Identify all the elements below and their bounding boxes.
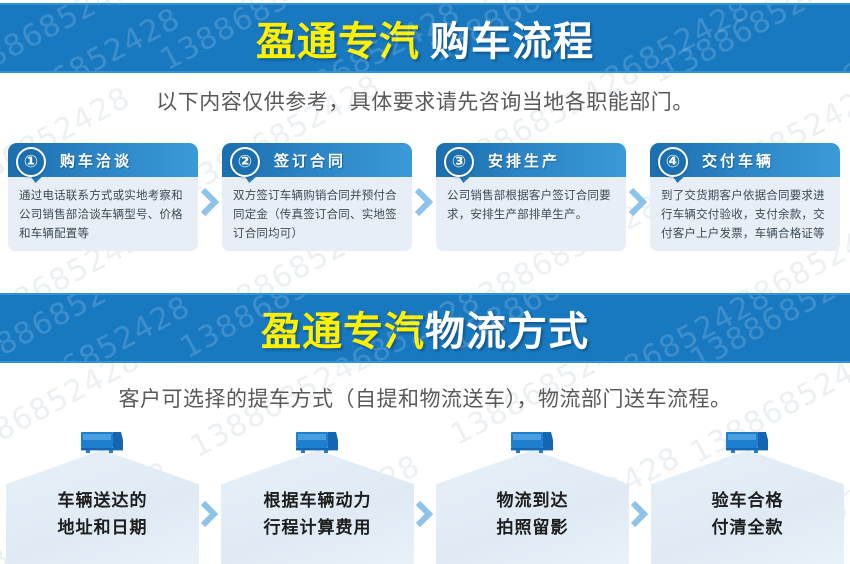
- step-body-4: 到了交货期客户依据合同要求进行车辆交付验收，支付余款，交付客户上户发票，车辆合格…: [650, 177, 840, 251]
- step-number-badge-3: ③: [444, 147, 474, 177]
- banner-brand: 盈通专汽: [261, 299, 425, 357]
- step-card-2[interactable]: ② 签订合同 双方签订车辆购销合同并预付合同定金（传真签订合同、实地签订合同均可…: [222, 143, 412, 251]
- chevron-right-icon: [414, 187, 434, 217]
- step-card-4[interactable]: ④ 交付车辆 到了交货期客户依据合同要求进行车辆交付验收，支付余款，交付客户上户…: [650, 143, 840, 251]
- banner-title-group: 盈通专汽 物流方式: [0, 295, 850, 361]
- chevron-right-icon: [200, 500, 220, 528]
- logistics-line2: 拍照留影: [497, 515, 569, 542]
- logistics-line2: 付清全款: [712, 515, 784, 542]
- logistics-label-4: 验车合格 付清全款: [651, 450, 844, 564]
- logistics-card-4[interactable]: 验车合格 付清全款: [651, 428, 844, 564]
- truck-icon: [720, 428, 776, 458]
- step-title-2: 签订合同: [274, 150, 346, 171]
- logistics-line2: 地址和日期: [58, 515, 148, 542]
- logistics-line1: 物流到达: [497, 488, 569, 515]
- step-header-2: ② 签订合同: [222, 143, 412, 177]
- step-title-3: 安排生产: [488, 150, 560, 171]
- logistics-row: 车辆送达的 地址和日期 根据车辆动力 行程计算费用: [6, 428, 844, 564]
- step-arrow-3: [626, 143, 650, 217]
- chevron-right-icon: [415, 500, 435, 528]
- step-body-1: 通过电话联系方式或实地考察和公司销售部洽谈车辆型号、价格和车辆配置等: [8, 177, 198, 251]
- infographic-page: 13886852428 13886852428 13886852428 1388…: [0, 0, 850, 564]
- logistics-line1: 车辆送达的: [58, 488, 148, 515]
- logistics-label-1: 车辆送达的 地址和日期: [6, 450, 199, 564]
- step-arrow-1: [198, 143, 222, 217]
- step-card-1[interactable]: ① 购车洽谈 通过电话联系方式或实地考察和公司销售部洽谈车辆型号、价格和车辆配置…: [8, 143, 198, 251]
- truck-icon: [75, 428, 131, 458]
- step-header-4: ④ 交付车辆: [650, 143, 840, 177]
- logistics-line1: 验车合格: [712, 488, 784, 515]
- step-number-badge-1: ①: [16, 147, 46, 177]
- subtitle-purchase: 以下内容仅供参考，具体要求请先咨询当地各职能部门。: [0, 86, 850, 116]
- step-title-4: 交付车辆: [702, 150, 774, 171]
- step-header-3: ③ 安排生产: [436, 143, 626, 177]
- step-arrow-2: [412, 143, 436, 217]
- truck-icon: [290, 428, 346, 458]
- banner-logistics: 13886852428 13886852428 13886852428 1388…: [0, 293, 850, 363]
- step-number-badge-4: ④: [658, 147, 688, 177]
- banner-title-group: 盈通专汽 购车流程: [0, 5, 850, 71]
- step-body-2: 双方签订车辆购销合同并预付合同定金（传真签订合同、实地签订合同均可）: [222, 177, 412, 251]
- logistics-line1: 根据车辆动力: [264, 488, 372, 515]
- banner-brand: 盈通专汽: [256, 9, 420, 67]
- logistics-label-2: 根据车辆动力 行程计算费用: [221, 450, 414, 564]
- banner-heading: 物流方式: [425, 299, 589, 357]
- logistics-arrow-3: [629, 428, 651, 564]
- step-card-3[interactable]: ③ 安排生产 公司销售部根据客户签订合同要求，安排生产部排单生产。: [436, 143, 626, 251]
- purchase-steps-row: ① 购车洽谈 通过电话联系方式或实地考察和公司销售部洽谈车辆型号、价格和车辆配置…: [8, 143, 842, 253]
- step-title-1: 购车洽谈: [60, 150, 132, 171]
- chevron-right-icon: [200, 187, 220, 217]
- logistics-line2: 行程计算费用: [264, 515, 372, 542]
- subtitle-logistics: 客户可选择的提车方式（自提和物流送车），物流部门送车流程。: [0, 383, 850, 413]
- logistics-card-1[interactable]: 车辆送达的 地址和日期: [6, 428, 199, 564]
- logistics-arrow-1: [199, 428, 221, 564]
- banner-heading: 购车流程: [430, 9, 594, 67]
- truck-icon: [505, 428, 561, 458]
- logistics-card-3[interactable]: 物流到达 拍照留影: [436, 428, 629, 564]
- step-number-badge-2: ②: [230, 147, 260, 177]
- logistics-arrow-2: [414, 428, 436, 564]
- chevron-right-icon: [628, 187, 648, 217]
- step-body-3: 公司销售部根据客户签订合同要求，安排生产部排单生产。: [436, 177, 626, 251]
- step-header-1: ① 购车洽谈: [8, 143, 198, 177]
- banner-purchase-process: 13886852428 13886852428 13886852428 1388…: [0, 3, 850, 73]
- logistics-label-3: 物流到达 拍照留影: [436, 450, 629, 564]
- logistics-card-2[interactable]: 根据车辆动力 行程计算费用: [221, 428, 414, 564]
- chevron-right-icon: [630, 500, 650, 528]
